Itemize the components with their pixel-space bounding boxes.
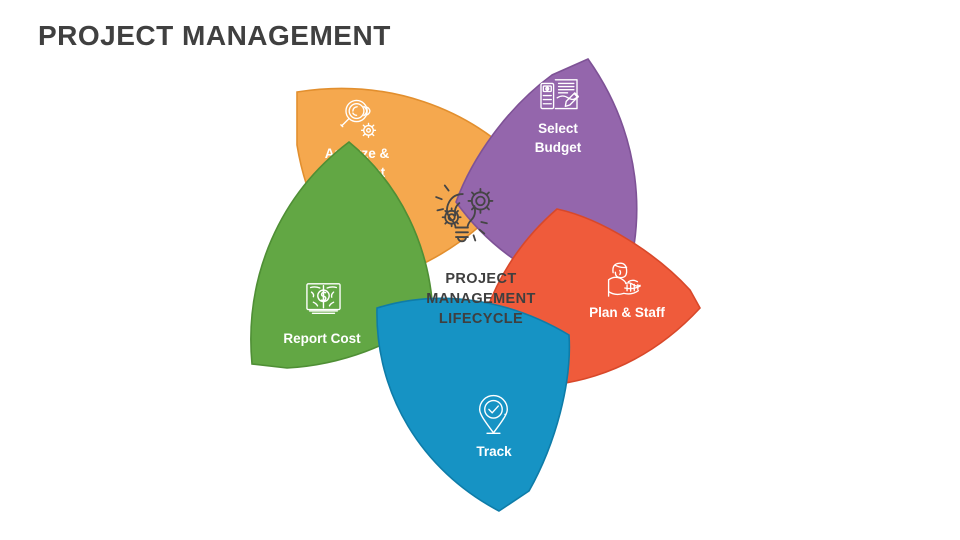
project-management-lifecycle-diagram: Analyze & Forecast Report Cost: [0, 0, 960, 540]
petal-select-budget-label-line2: Budget: [535, 140, 582, 155]
petal-track[interactable]: Track: [377, 298, 569, 511]
center-title-line3: LIFECYCLE: [439, 311, 523, 327]
center-title-line1: PROJECT: [445, 271, 516, 287]
petal-select-budget-label-line1: Select: [538, 121, 578, 136]
petal-track-shape[interactable]: [377, 298, 569, 511]
center-title-line2: MANAGEMENT: [426, 291, 536, 307]
slide-canvas: PROJECT MANAGEMENT Analyze & Forecast: [0, 0, 960, 540]
petal-report-cost-label-line1: Report Cost: [283, 331, 361, 346]
petal-track-label-line1: Track: [476, 444, 512, 459]
petal-plan-staff-label-line1: Plan & Staff: [589, 305, 665, 320]
